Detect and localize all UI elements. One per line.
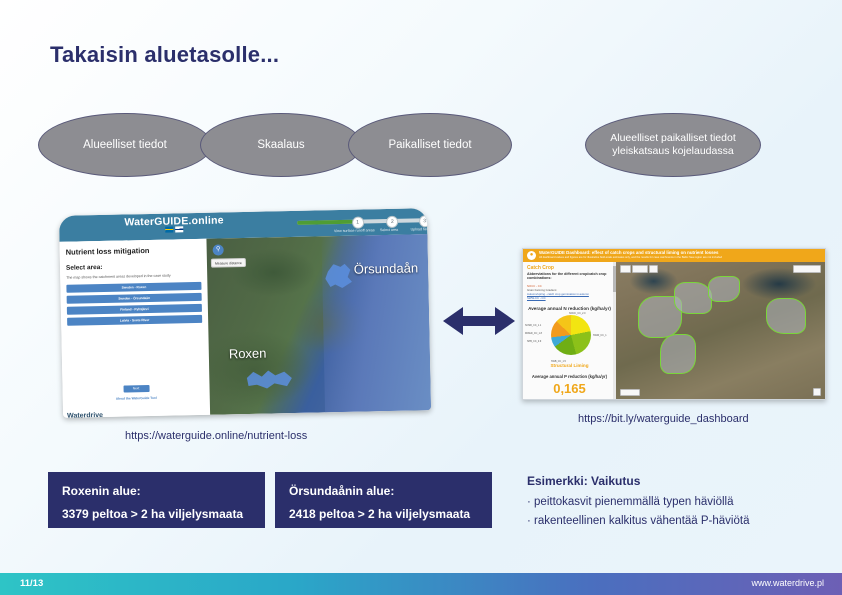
example-impact-block: Esimerkki: Vaikutus · peittokasvit piene… <box>527 474 827 534</box>
area-button-orsundaan[interactable]: Sweden - Örsundaån <box>67 293 202 304</box>
app-panel-heading: Nutrient loss mitigation <box>66 245 201 257</box>
footer-url[interactable]: www.waterdrive.pl <box>751 578 824 588</box>
map-zoom-control[interactable] <box>620 265 631 273</box>
stepper-dot-2[interactable]: 2 <box>386 216 398 228</box>
dashboard-section-subtitle: Abbreviations for the different crop/cat… <box>527 272 613 280</box>
page-title: Takaisin aluetasolle... <box>50 42 279 68</box>
dashboard-value: 0,165 <box>523 381 616 396</box>
info-box-value: 2418 peltoa > 2 ha viljelysmaata <box>289 507 478 521</box>
info-box-title: Roxenin alue: <box>62 484 251 498</box>
dashboard-left-panel: Catch Crop Abbreviations for the differe… <box>523 262 617 399</box>
map-layers-control[interactable] <box>632 265 648 273</box>
area-button-svete[interactable]: Latvia - Svete River <box>67 315 202 326</box>
ellipse-label: Alueelliset tiedot <box>83 138 167 152</box>
slide-root: Takaisin aluetasolle... Alueelliset tied… <box>0 0 842 595</box>
app-panel-note: The map shows the catchment areas develo… <box>66 273 201 280</box>
stepper-label-1: View surface runoff areas <box>334 228 375 233</box>
pie-label-2: SWW_CC_1 <box>593 334 607 337</box>
info-box-orsundaan: Örsundaånin alue: 2418 peltoa > 2 ha vil… <box>275 472 492 528</box>
catchment-roxen[interactable] <box>244 369 294 390</box>
info-box-title: Örsundaånin alue: <box>289 484 478 498</box>
ellipse-regional-data: Alueelliset tiedot <box>38 113 212 177</box>
app-panel-subheading: Select area: <box>66 262 201 272</box>
stepper-dot-3[interactable]: 3 <box>419 215 431 227</box>
stepper-label-2: Select area <box>380 228 398 232</box>
area-button-roxen[interactable]: Sweden - Roxen <box>66 282 201 293</box>
pie-label-6: SOSR_CC_1.1 <box>525 324 541 327</box>
example-impact-heading: Esimerkki: Vaikutus <box>527 474 827 488</box>
measure-distance-tooltip: Measure distance <box>211 258 246 268</box>
app-map[interactable]: ⚲ Measure distance Örsundaån Roxen <box>206 234 431 415</box>
info-box-value: 3379 peltoa > 2 ha viljelysmaata <box>62 507 251 521</box>
app-stepper: 1 2 3 View surface runoff areas Select a… <box>297 214 421 237</box>
example-impact-bullet-2: · rakenteellinen kalkitus vähentää P-häv… <box>527 515 827 527</box>
pie-label-4: SPB_CC_0.9 <box>527 340 541 343</box>
double-arrow-icon <box>443 303 515 339</box>
ellipse-scaling: Skaalaus <box>200 113 362 177</box>
map-fullscreen-control[interactable] <box>813 388 821 396</box>
pie-label-5: MIXED_CC_1.8 <box>525 332 542 335</box>
pie-chart <box>551 315 591 355</box>
waterguide-logo-icon: ● <box>527 251 536 260</box>
map-scale-bar <box>620 389 640 396</box>
map-subcatchment[interactable] <box>674 282 712 314</box>
stepper-progress <box>297 220 353 225</box>
next-button[interactable]: Next <box>123 385 149 393</box>
dashboard-legend-line-4[interactable]: SWW-CC - CC <box>527 296 546 300</box>
dashboard-value-label: Average annual P reduction (kg/ha/yr) <box>523 374 616 379</box>
ellipse-dashboard-overview: Alueelliset paikalliset tiedot yleiskats… <box>585 113 761 177</box>
map-subcatchment[interactable] <box>766 298 806 334</box>
dashboard-header-subtitle: All dashboard values and figures are for… <box>539 256 722 259</box>
stepper-dot-1[interactable]: 1 <box>352 216 364 228</box>
stepper-label-3: Upload field <box>411 227 430 231</box>
dashboard-header-title: WaterGUIDE Dashboard: effect of catch cr… <box>539 250 718 255</box>
dashboard-section-title: Catch Crop <box>527 265 554 271</box>
slide-footer: 11/13 www.waterdrive.pl <box>0 573 842 595</box>
app-body: Nutrient loss mitigation Select area: Th… <box>59 234 431 418</box>
ellipse-label: Paikalliset tiedot <box>388 138 471 152</box>
example-impact-bullet-1: · peittokasvit pienemmällä typen häviöll… <box>527 496 827 508</box>
app-footer-brand: Waterdrive <box>67 412 103 418</box>
map-reset-control[interactable] <box>649 265 658 273</box>
finland-flag-icon[interactable] <box>175 226 183 232</box>
dashboard-header: ● WaterGUIDE Dashboard: effect of catch … <box>523 249 825 262</box>
caption-left-url[interactable]: https://waterguide.online/nutrient-loss <box>125 430 307 442</box>
map-label-orsundaan: Örsundaån <box>354 260 419 276</box>
caption-right-url[interactable]: https://bit.ly/waterguide_dashboard <box>578 413 749 425</box>
pie-chart-title: Average annual N reduction (kg/ha/yr) <box>523 306 616 311</box>
map-subcatchment[interactable] <box>660 334 696 374</box>
map-basemap-control[interactable] <box>793 265 821 273</box>
dashboard-map[interactable] <box>616 262 825 399</box>
map-label-roxen: Roxen <box>229 346 267 362</box>
page-number: 11/13 <box>20 578 43 589</box>
ellipse-label: Alueelliset paikalliset tiedot yleiskats… <box>586 132 760 158</box>
dashboard-section2-title: Structural Liming <box>523 363 616 368</box>
ellipse-label: Skaalaus <box>257 138 304 152</box>
info-box-roxen: Roxenin alue: 3379 peltoa > 2 ha viljely… <box>48 472 265 528</box>
app-left-panel: Nutrient loss mitigation Select area: Th… <box>59 239 210 418</box>
search-icon[interactable]: ⚲ <box>213 244 224 255</box>
sweden-flag-icon[interactable] <box>165 227 173 233</box>
about-tool-link[interactable]: About the WaterGuide Tool <box>116 396 157 401</box>
waterguide-dashboard-screenshot: ● WaterGUIDE Dashboard: effect of catch … <box>522 248 826 400</box>
pie-label-1: NOCC_CC_2.0 <box>569 312 585 315</box>
area-button-pyhajarvi[interactable]: Finland - Pyhäjärvi <box>67 304 202 315</box>
ellipse-local-data: Paikalliset tiedot <box>348 113 512 177</box>
map-subcatchment[interactable] <box>708 276 740 302</box>
waterguide-app-screenshot: WaterGUIDE.online 1 2 3 View surface run… <box>59 208 431 418</box>
